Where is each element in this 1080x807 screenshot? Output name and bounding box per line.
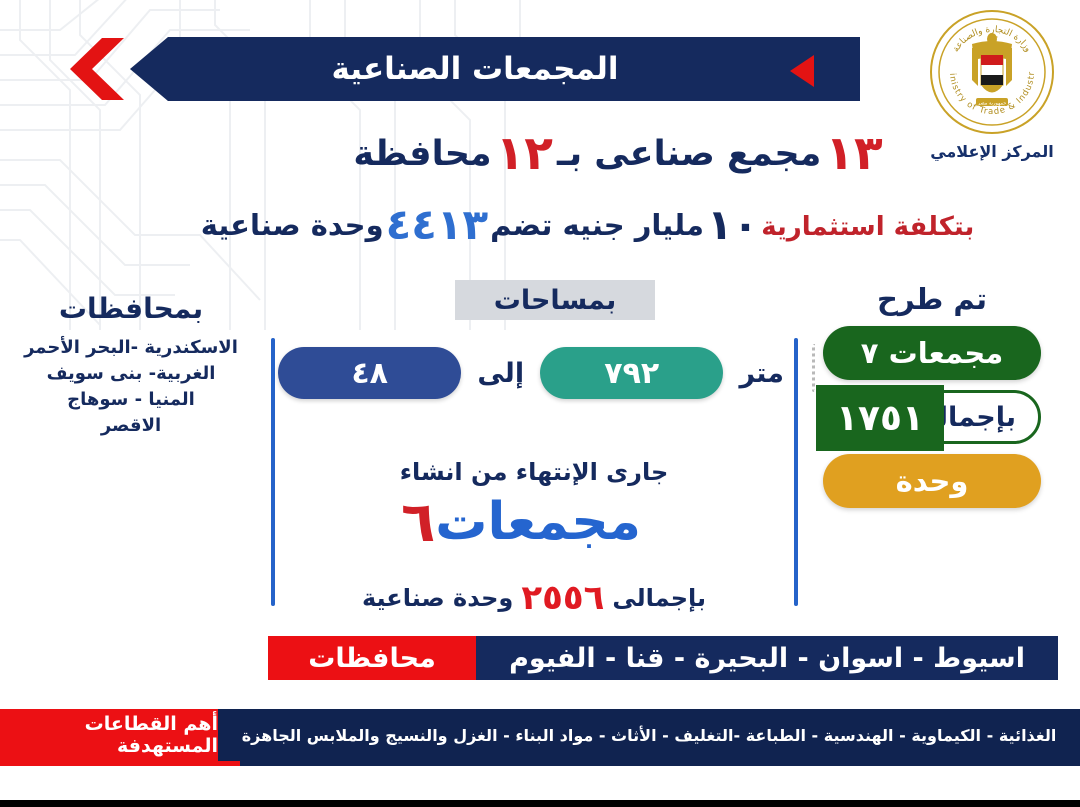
cost-label: بتكلفة استثمارية: [761, 212, 974, 242]
sectors-bar: أهم القطاعات المستهدفة الغذائية - الكيما…: [0, 709, 1080, 761]
launched-total-pill: بإجمالى ١٧٥١: [823, 390, 1041, 444]
area-range-row: ٤٨ إلى ٧٩٢ متر: [278, 345, 790, 401]
construction-label: جارى الإنتهاء من انشاء: [278, 458, 790, 486]
list-item: الاقصر: [0, 413, 262, 439]
launched-total-value: ١٧٥١: [816, 385, 944, 451]
headline-secondary: بتكلفة استثمارية١٠مليار جنيه تضم٤٤١٣وحدة…: [0, 200, 1080, 249]
headline-primary: ١٣مجمع صناعى بـ١٢محافظة: [0, 126, 1080, 181]
headline-part2: محافظة: [353, 134, 491, 174]
area-connector: إلى: [471, 358, 530, 389]
banner-arrow-icon: [790, 55, 814, 87]
construction-total: بإجمالى٢٥٥٦وحدة صناعية: [278, 578, 790, 618]
launched-unit-pill: وحدة: [823, 454, 1041, 508]
area-unit: متر: [733, 358, 790, 389]
construction-word: مجمعات: [435, 492, 641, 552]
units-value: ٤٤١٣: [386, 200, 489, 249]
divider-right: [794, 338, 798, 606]
infographic-page: المجمعات الصناعية وزارة التجارة والصناعة…: [0, 0, 1080, 807]
construction-count: ٦: [401, 490, 435, 555]
list-item: الاسكندرية -البحر الأحمر: [0, 335, 262, 361]
svg-text:جمهورية مصر: جمهورية مصر: [977, 101, 1007, 107]
page-header: المجمعات الصناعية وزارة التجارة والصناعة…: [0, 0, 1080, 130]
sectors-bar-label: أهم القطاعات المستهدفة: [0, 709, 218, 761]
bottom-stripe-red: [0, 761, 240, 766]
list-item: المنيا - سوهاج: [0, 387, 262, 413]
governorates-count: ١٢: [496, 126, 553, 181]
governorates-column: بمحافظات الاسكندرية -البحر الأحمر الغربي…: [0, 292, 262, 439]
bottom-stripe-navy: [240, 761, 1080, 766]
construction-total-value: ٢٥٥٦: [521, 578, 604, 618]
governorates-heading: بمحافظات: [0, 292, 262, 325]
area-to-pill: ٧٩٢: [540, 347, 723, 399]
units-label: وحدة صناعية: [201, 208, 384, 242]
sectors-bar-value: الغذائية - الكيماوية - الهندسية - الطباع…: [218, 709, 1080, 761]
headline-part1: مجمع صناعى بـ: [557, 134, 821, 174]
launched-column: تم طرح مجمعات ٧ بإجمالى ١٧٥١ وحدة: [806, 282, 1058, 508]
launched-complexes-pill: مجمعات ٧: [823, 326, 1041, 380]
title-banner: المجمعات الصناعية: [130, 37, 860, 101]
launched-complexes-word: مجمعات: [889, 336, 1004, 370]
cost-value: ١٠: [707, 200, 758, 249]
ministry-seal-icon: وزارة التجارة والصناعة Ministry of Trade…: [928, 8, 1056, 136]
launched-heading: تم طرح: [806, 282, 1058, 316]
governorates-bar-value: اسيوط - اسوان - البحيرة - قنا - الفيوم: [476, 636, 1058, 680]
areas-heading: بمساحات: [455, 280, 655, 320]
construction-total-label: بإجمالى: [612, 584, 706, 612]
construction-figure: مجمعات٦: [278, 490, 790, 555]
divider-left: [271, 338, 275, 606]
complexes-count: ١٣: [825, 126, 882, 181]
area-from-pill: ٤٨: [278, 347, 461, 399]
construction-total-unit: وحدة صناعية: [362, 584, 513, 612]
launched-complexes-count: ٧: [861, 336, 879, 370]
cost-unit: مليار جنيه تضم: [490, 208, 704, 242]
list-item: الغربية- بنى سويف: [0, 361, 262, 387]
governorates-list: الاسكندرية -البحر الأحمر الغربية- بنى سو…: [0, 335, 262, 439]
governorates-bar-label: محافظات: [268, 636, 476, 680]
bottom-black-bar: [0, 800, 1080, 807]
chevron-left-icon: [62, 38, 124, 100]
bottom-stripe: [0, 761, 1080, 766]
governorates-bar: محافظات اسيوط - اسوان - البحيرة - قنا - …: [268, 636, 1058, 680]
page-title: المجمعات الصناعية: [332, 51, 619, 87]
